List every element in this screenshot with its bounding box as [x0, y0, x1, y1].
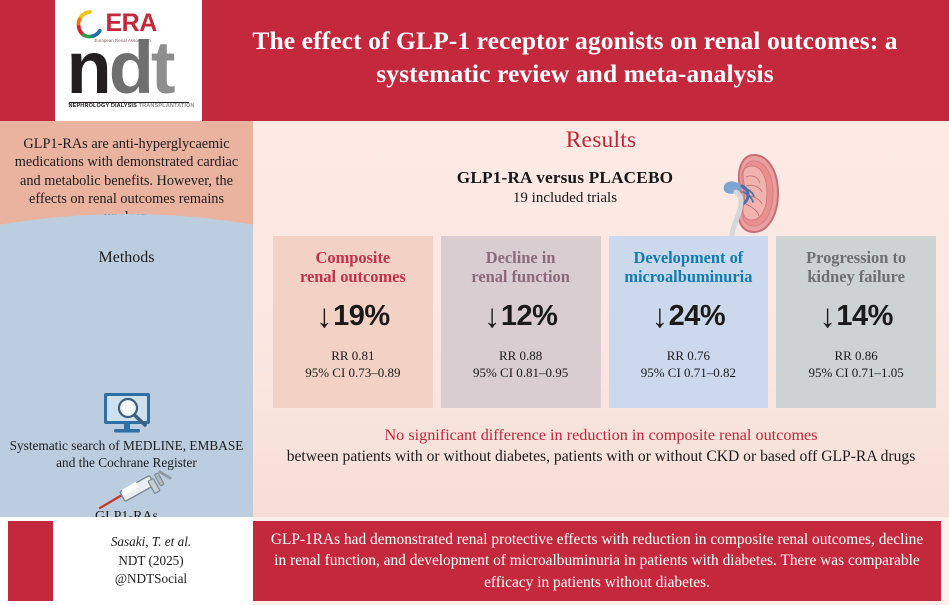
citation-authors: Sasaki, T. et al.: [53, 533, 249, 552]
ndt-subtitle-gray: TRANSPLANTATION: [139, 103, 195, 109]
ndt-wordmark: ndt: [67, 31, 173, 105]
card-ci-value: 95% CI 0.71–1.05: [808, 364, 903, 381]
card-ci-value: 95% CI 0.81–0.95: [473, 364, 568, 381]
citation-accent-block: [8, 521, 53, 601]
card-statistics: RR 0.86 95% CI 0.71–1.05: [808, 347, 903, 381]
card-title: Decline inrenal function: [467, 248, 574, 287]
card-rr-value: RR 0.88: [473, 347, 568, 364]
citation-text: Sasaki, T. et al. NDT (2025) @NDTSocial: [53, 533, 249, 589]
card-title: Compositerenal outcomes: [296, 248, 410, 287]
card-rr-value: RR 0.86: [808, 347, 903, 364]
results-heading: Results: [253, 127, 949, 154]
card-percent: 24%: [669, 300, 726, 333]
outcome-card-composite-renal-outcomes[interactable]: Compositerenal outcomes ↓19% RR 0.81 95%…: [273, 236, 433, 408]
citation-journal: NDT (2025): [53, 552, 249, 571]
syringe-icon: [96, 470, 176, 512]
ndt-subtitle: NEPHROLOGY DIALYSIS TRANSPLANTATION: [69, 103, 195, 109]
card-title: Development ofmicroalbuminuria: [620, 248, 756, 287]
infographic-poster: ERA European Renal Association ndt NEPHR…: [0, 0, 949, 605]
intro-text: GLP1-RAs are anti-hyperglycaemic medicat…: [10, 135, 243, 226]
card-rr-value: RR 0.81: [305, 347, 400, 364]
card-effect: ↓12%: [484, 300, 558, 333]
card-ci-value: 95% CI 0.73–0.89: [305, 364, 400, 381]
citation-handle: @NDTSocial: [53, 570, 249, 589]
monitor-search-icon: [100, 391, 158, 437]
outcome-card-decline-in-renal-function[interactable]: Decline inrenal function ↓12% RR 0.88 95…: [441, 236, 601, 408]
card-ci-value: 95% CI 0.71–0.82: [641, 364, 736, 381]
arrow-down-icon: ↓: [316, 303, 332, 329]
arrow-down-icon: ↓: [819, 303, 835, 329]
arrow-down-icon: ↓: [484, 303, 500, 329]
card-rr-value: RR 0.76: [641, 347, 736, 364]
card-percent: 12%: [501, 300, 558, 333]
methods-heading: Methods: [0, 249, 253, 267]
card-title: Progression tokidney failure: [802, 248, 910, 287]
journal-logo: ERA European Renal Association ndt NEPHR…: [55, 0, 202, 121]
outcome-card-development-of-microalbuminuria[interactable]: Development ofmicroalbuminuria ↓24% RR 0…: [609, 236, 769, 408]
outcome-card-progression-to-kidney-failure[interactable]: Progression tokidney failure ↓14% RR 0.8…: [776, 236, 936, 408]
citation-authors-italic: Sasaki, T. et al.: [111, 534, 191, 549]
card-statistics: RR 0.88 95% CI 0.81–0.95: [473, 347, 568, 381]
conclusion-text: GLP-1RAs had demonstrated renal protecti…: [263, 529, 931, 594]
sidebar: GLP1-RAs are anti-hyperglycaemic medicat…: [0, 121, 253, 517]
page-title: The effect of GLP-1 receptor agonists on…: [215, 24, 935, 90]
ndt-subtitle-dark: NEPHROLOGY DIALYSIS: [69, 103, 139, 109]
kidney-anatomy-icon: [706, 152, 782, 236]
card-effect: ↓24%: [652, 300, 726, 333]
subgroup-note: No significant difference in reduction i…: [268, 425, 934, 468]
arrow-down-icon: ↓: [652, 303, 668, 329]
card-statistics: RR 0.76 95% CI 0.71–0.82: [641, 347, 736, 381]
card-percent: 14%: [836, 300, 893, 333]
conclusion-banner: GLP-1RAs had demonstrated renal protecti…: [253, 521, 941, 601]
outcome-cards: Compositerenal outcomes ↓19% RR 0.81 95%…: [273, 236, 936, 408]
card-effect: ↓14%: [819, 300, 893, 333]
card-statistics: RR 0.81 95% CI 0.73–0.89: [305, 347, 400, 381]
drug-label: GLP1-RAs: [0, 509, 253, 517]
subgroup-note-highlight: No significant difference in reduction i…: [268, 425, 934, 447]
card-effect: ↓19%: [316, 300, 390, 333]
card-percent: 19%: [333, 300, 390, 333]
methods-search-text: Systematic search of MEDLINE, EMBASE and…: [4, 438, 249, 472]
subgroup-note-body: between patients with or without diabete…: [268, 447, 934, 468]
